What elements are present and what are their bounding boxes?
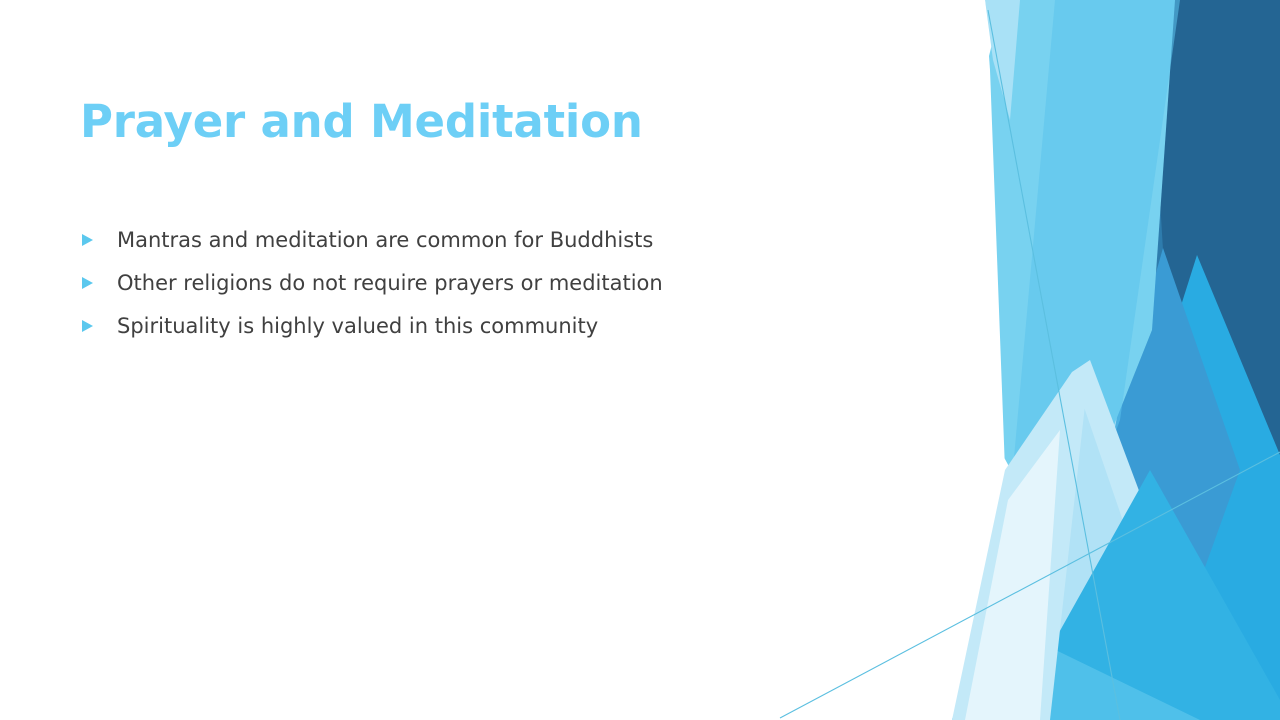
decor-shape-dark-wedge [1148, 0, 1280, 470]
decor-shape-pale-wedge [965, 360, 1165, 720]
decor-shape-top-thin-strip [985, 0, 1020, 120]
triangle-right-bullet-icon [80, 271, 96, 295]
list-item-label: Mantras and meditation are common for Bu… [117, 228, 910, 252]
decor-shape-light-overlay [1012, 0, 1180, 650]
decor-shape-bottom-sky-triangle [950, 640, 1200, 720]
bullet-list: Mantras and meditation are common for Bu… [80, 228, 910, 357]
decor-shape-pale-wedge-two [1002, 372, 1150, 720]
slide-content-area: Prayer and Meditation Mantras and medita… [0, 0, 980, 720]
list-item: Mantras and meditation are common for Bu… [80, 228, 910, 252]
triangle-right-bullet-icon [80, 228, 96, 252]
list-item: Other religions do not require prayers o… [80, 271, 910, 295]
decor-shape-deep-band [1105, 0, 1280, 720]
decor-shape-cyan-band-bottom [1010, 470, 1280, 720]
list-item: Spirituality is highly valued in this co… [80, 314, 910, 338]
triangle-right-bullet-icon [80, 314, 96, 338]
presentation-slide: Prayer and Meditation Mantras and medita… [0, 0, 1280, 720]
decor-shape-vivid-lower-right [1050, 255, 1280, 720]
decor-shape-mid-blue-slab [1062, 248, 1240, 720]
decor-hairline-primary [988, 10, 1120, 720]
decor-shape-sky-sweep [988, 0, 1175, 560]
page-title: Prayer and Meditation [80, 96, 900, 148]
list-item-label: Spirituality is highly valued in this co… [117, 314, 910, 338]
list-item-label: Other religions do not require prayers o… [117, 271, 910, 295]
